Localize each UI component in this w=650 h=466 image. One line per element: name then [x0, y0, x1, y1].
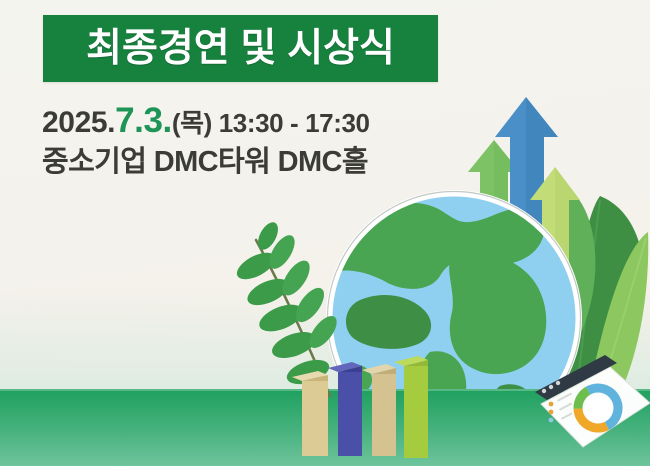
- date-prefix: 2025.: [42, 106, 115, 139]
- date-suffix: (목) 13:30 - 17:30: [172, 108, 370, 138]
- poster-background-mint-fade: [0, 286, 650, 466]
- event-info-block: 2025.7.3.(목) 13:30 - 17:30 중소기업 DMC타워 DM…: [42, 101, 482, 180]
- title-banner: 최종경연 및 시상식: [43, 15, 438, 82]
- event-venue-line: 중소기업 DMC타워 DMC홀: [42, 146, 482, 179]
- date-accent: 7.3.: [115, 101, 172, 140]
- event-poster: 최종경연 및 시상식 2025.7.3.(목) 13:30 - 17:30 중소…: [0, 0, 650, 466]
- page-title: 최종경연 및 시상식: [86, 29, 395, 68]
- event-datetime-line: 2025.7.3.(목) 13:30 - 17:30: [42, 101, 482, 140]
